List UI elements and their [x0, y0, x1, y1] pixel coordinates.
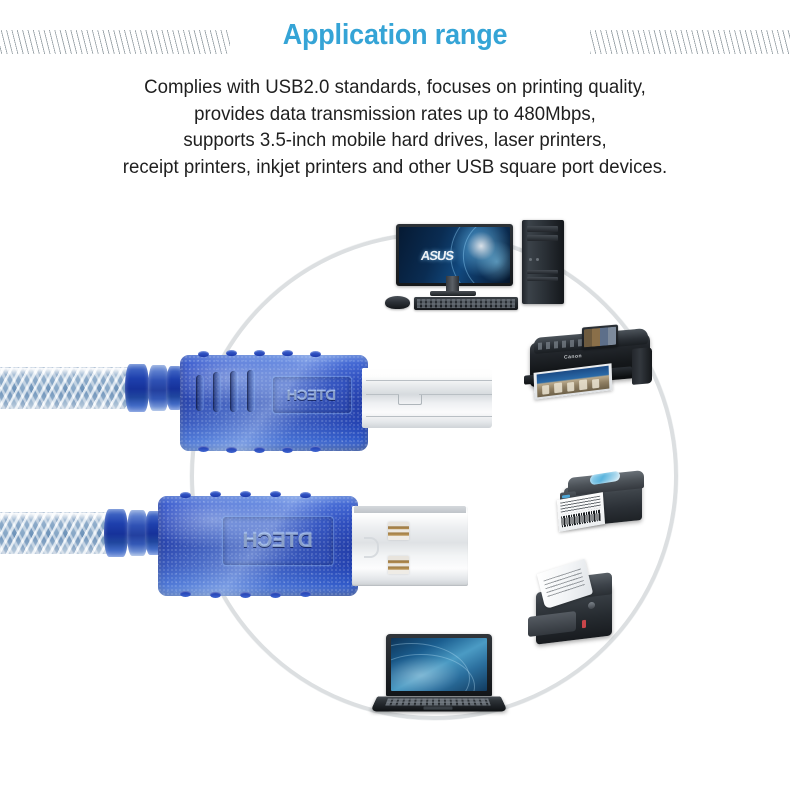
usb-b-ridge-nub — [310, 446, 321, 452]
usb-a-ridge-nub — [300, 591, 311, 597]
device-laptop[interactable] — [372, 632, 507, 722]
inkjet-lcd-display — [584, 327, 616, 348]
usb-b-grip-slot — [213, 372, 220, 412]
usb-a-ridge-nub — [210, 592, 221, 598]
header-section: Application range Complies with USB2.0 s… — [0, 0, 790, 200]
usb-a-ridge-nub — [240, 491, 251, 497]
usb-b-ridge-nub — [226, 447, 237, 453]
usb-b-shell-edge-line — [366, 416, 492, 417]
usb-b-ridge-nub — [226, 350, 237, 356]
usb-b-brand-logo-text: DTECH — [287, 387, 336, 404]
receipt-text-lines — [544, 568, 586, 598]
usb-a-ridge-nub — [270, 491, 281, 497]
usb-a-cable-highlight — [0, 513, 112, 520]
usb-b-shell-notch-line — [419, 394, 492, 395]
pc-keyboard — [414, 297, 518, 310]
usb-b-shell-notch — [398, 394, 422, 405]
usb-b-shell-notch-line — [366, 394, 399, 395]
usb-a-ridge-nub — [180, 591, 191, 597]
pc-brand-logo: ASUS — [420, 248, 454, 263]
label-printer-printed-label — [557, 492, 605, 532]
usb-b-grip-slot — [196, 375, 203, 411]
page-title: Application range — [28, 19, 763, 52]
receipt-printer-status-led — [582, 620, 586, 628]
usb-b-shell-edge-line — [366, 380, 492, 381]
pc-tower-drive-bay — [527, 235, 558, 241]
usb-a-gold-contact — [388, 556, 409, 574]
product-marketing-image: Application range Complies with USB2.0 s… — [0, 0, 790, 790]
inkjet-lcd-screen — [582, 324, 618, 349]
description-line-3: supports 3.5-inch mobile hard drives, la… — [18, 127, 772, 154]
pc-monitor-stand-base — [430, 291, 476, 296]
usb-a-ridge-nub — [210, 491, 221, 497]
description-block: Complies with USB2.0 standards, focuses … — [18, 74, 772, 180]
pc-keyboard-keys — [417, 299, 515, 308]
pc-tower-power-led — [529, 258, 532, 261]
usb-b-strain-relief-ring-1 — [125, 364, 149, 412]
usb-a-brand-logo-panel: DTECH — [222, 516, 334, 566]
usb-a-brand-logo-text: DTECH — [243, 529, 313, 553]
device-desktop-pc[interactable]: ASUS — [382, 218, 567, 313]
laptop-keyboard — [385, 699, 490, 706]
laptop-screen — [391, 638, 487, 691]
laptop-lid — [386, 634, 492, 696]
product-scene: DTECH — [0, 200, 790, 790]
inkjet-printer-side-panel — [632, 347, 652, 385]
photo-detail — [554, 382, 562, 393]
usb-b-ridge-nub — [254, 350, 265, 356]
usb-b-ridge-nub — [198, 351, 209, 357]
device-inkjet-printer[interactable]: Canon — [524, 324, 664, 424]
pc-tower-usb-port — [536, 258, 539, 261]
description-line-1: Complies with USB2.0 standards, focuses … — [18, 74, 772, 101]
usb-b-ridge-nub — [310, 351, 321, 357]
pc-tower-drive-bay — [527, 226, 558, 232]
photo-detail — [567, 382, 574, 392]
pc-tower-drive-bay — [527, 277, 558, 281]
usb-b-brand-logo-panel: DTECH — [272, 376, 352, 414]
photo-detail — [592, 379, 599, 389]
pc-monitor-screen: ASUS — [399, 227, 510, 283]
description-line-4: receipt printers, inkjet printers and ot… — [18, 154, 772, 181]
laptop-screen-swoosh — [391, 654, 475, 691]
pc-tower-drive-bay — [527, 270, 558, 274]
device-receipt-printer[interactable] — [526, 562, 636, 657]
usb-b-ridge-nub — [254, 447, 265, 453]
usb-a-ridge-nub — [300, 492, 311, 498]
laptop-base — [370, 696, 507, 711]
photo-detail — [542, 385, 549, 395]
usb-b-ridge-nub — [282, 350, 293, 356]
description-line-2: provides data transmission rates up to 4… — [18, 101, 772, 128]
usb-a-shell-top-edge — [354, 506, 466, 513]
usb-b-metal-shell — [362, 368, 492, 428]
usb-b-ridge-nub — [282, 447, 293, 453]
usb-b-grip-slot — [247, 370, 254, 412]
usb-a-ridge-nub — [180, 492, 191, 498]
laptop-trackpad — [423, 706, 452, 709]
photo-detail — [579, 379, 587, 390]
usb-a-tongue-detail — [364, 537, 379, 558]
usb-a-strain-relief-ring-1 — [104, 509, 128, 557]
pc-tower-case — [522, 220, 564, 304]
usb-a-ridge-nub — [240, 592, 251, 598]
usb-a-gold-contact — [388, 522, 409, 540]
usb-b-cable-highlight — [0, 368, 134, 375]
usb-b-ridge-nub — [198, 446, 209, 452]
pc-mouse — [385, 296, 410, 309]
usb-a-ridge-nub — [270, 592, 281, 598]
device-label-printer[interactable] — [556, 466, 656, 546]
usb-b-grip-slot — [230, 371, 237, 412]
